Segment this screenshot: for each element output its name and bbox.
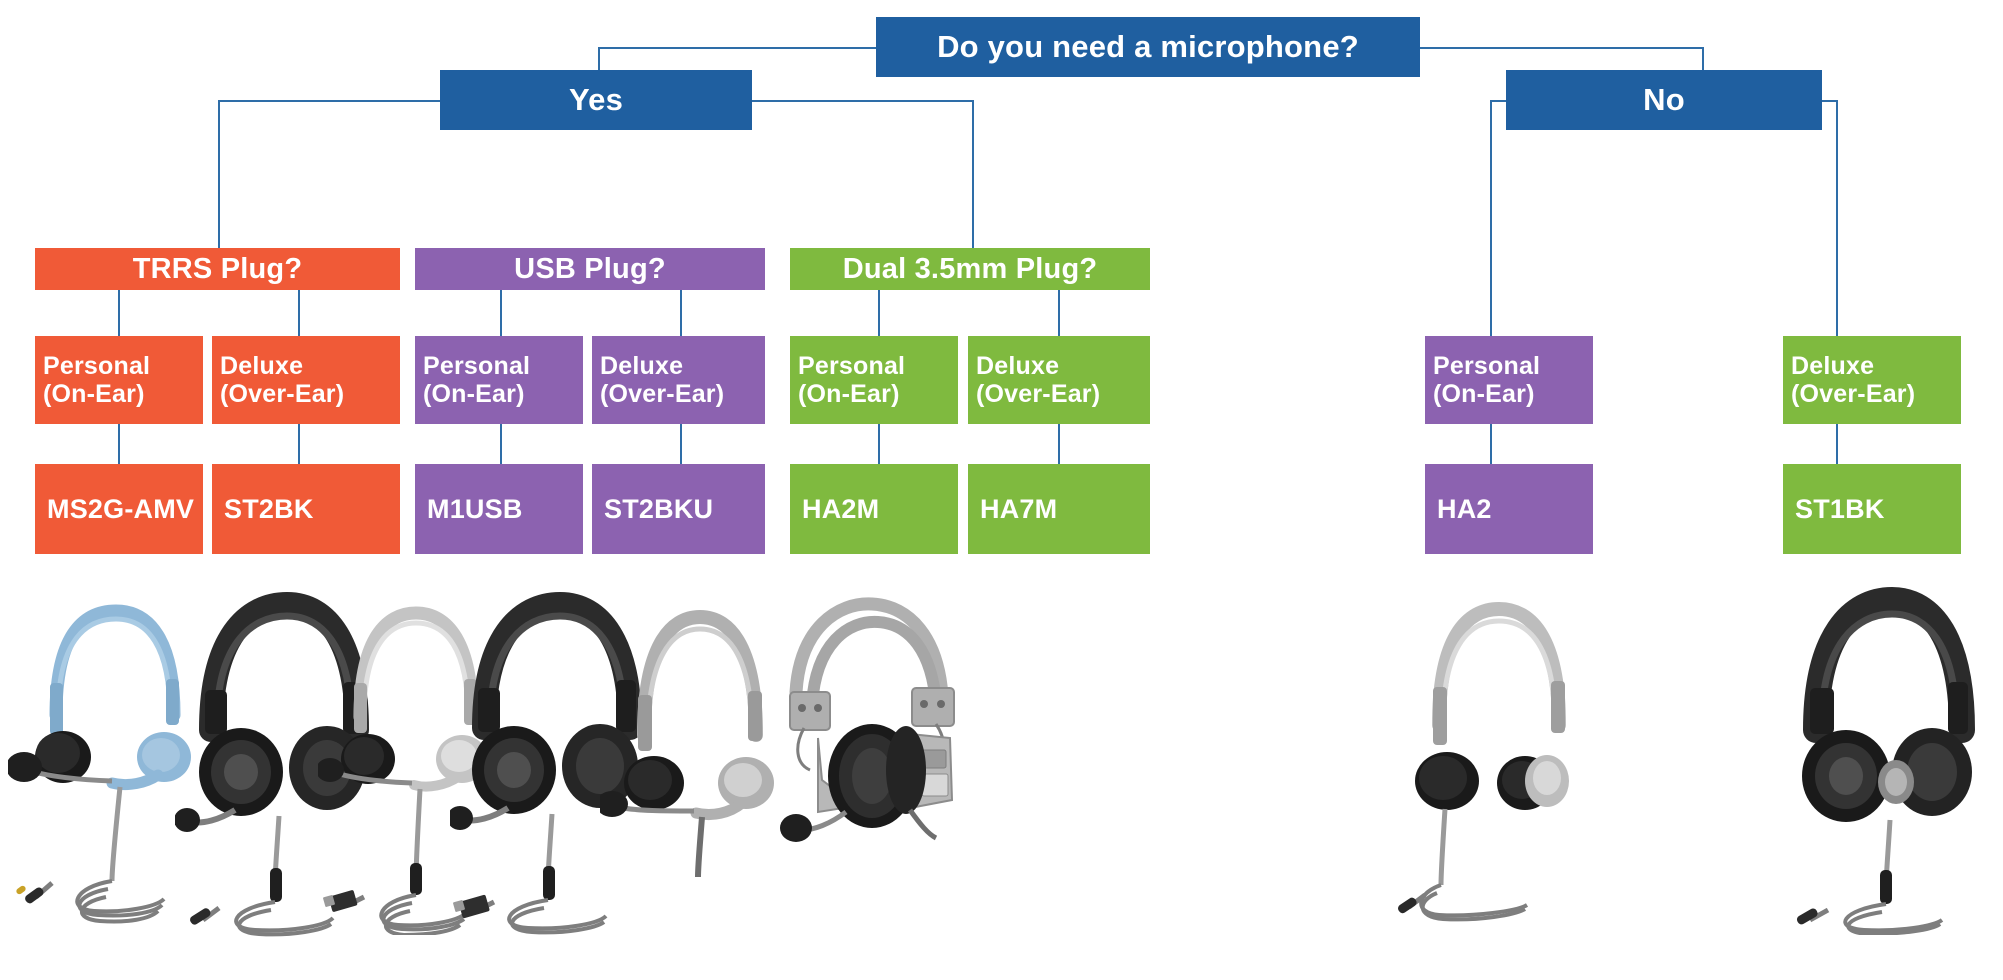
sku-label: HA7M bbox=[980, 494, 1150, 524]
sku-node-st2bk[interactable]: ST2BK bbox=[212, 464, 400, 554]
type-line1: Deluxe bbox=[1791, 352, 1961, 380]
sku-label: HA2M bbox=[802, 494, 958, 524]
product-photo-ha7m bbox=[760, 580, 970, 880]
category-node-trrs[interactable]: TRRS Plug? bbox=[35, 248, 400, 290]
sku-label: ST2BK bbox=[224, 494, 400, 524]
type-line2: (Over-Ear) bbox=[976, 380, 1150, 408]
decision-tree-diagram: Do you need a microphone? Yes No TRRS Pl… bbox=[0, 0, 2003, 980]
type-line1: Deluxe bbox=[976, 352, 1150, 380]
branch-yes-label: Yes bbox=[440, 83, 752, 118]
sku-label: HA2 bbox=[1437, 494, 1593, 524]
type-node-trrs-deluxe[interactable]: Deluxe(Over-Ear) bbox=[212, 336, 400, 424]
type-line2: (On-Ear) bbox=[43, 380, 203, 408]
type-line2: (On-Ear) bbox=[423, 380, 583, 408]
category-dual35-label: Dual 3.5mm Plug? bbox=[790, 253, 1150, 285]
branch-node-yes[interactable]: Yes bbox=[440, 70, 752, 130]
sku-node-ha7m[interactable]: HA7M bbox=[968, 464, 1150, 554]
type-line1: Personal bbox=[798, 352, 958, 380]
sku-label: M1USB bbox=[427, 494, 583, 524]
product-photo-st1bk bbox=[1780, 570, 1980, 935]
type-node-trrs-personal[interactable]: Personal(On-Ear) bbox=[35, 336, 203, 424]
type-line2: (Over-Ear) bbox=[220, 380, 400, 408]
category-node-dual35[interactable]: Dual 3.5mm Plug? bbox=[790, 248, 1150, 290]
sku-label: ST2BKU bbox=[604, 494, 765, 524]
sku-node-ms2g-amv[interactable]: MS2G-AMV bbox=[35, 464, 203, 554]
type-line1: Personal bbox=[423, 352, 583, 380]
branch-node-no[interactable]: No bbox=[1506, 70, 1822, 130]
sku-node-m1usb[interactable]: M1USB bbox=[415, 464, 583, 554]
type-node-usb-deluxe[interactable]: Deluxe(Over-Ear) bbox=[592, 336, 765, 424]
type-line2: (On-Ear) bbox=[798, 380, 958, 408]
type-node-usb-personal[interactable]: Personal(On-Ear) bbox=[415, 336, 583, 424]
type-line1: Deluxe bbox=[220, 352, 400, 380]
product-photo-ha2 bbox=[1395, 575, 1585, 935]
type-node-no-deluxe[interactable]: Deluxe(Over-Ear) bbox=[1783, 336, 1961, 424]
type-node-dual35-deluxe[interactable]: Deluxe(Over-Ear) bbox=[968, 336, 1150, 424]
category-node-usb[interactable]: USB Plug? bbox=[415, 248, 765, 290]
root-question-label: Do you need a microphone? bbox=[876, 30, 1420, 65]
type-line2: (Over-Ear) bbox=[600, 380, 765, 408]
sku-node-st1bk[interactable]: ST1BK bbox=[1783, 464, 1961, 554]
sku-node-ha2[interactable]: HA2 bbox=[1425, 464, 1593, 554]
type-line2: (Over-Ear) bbox=[1791, 380, 1961, 408]
sku-node-ha2m[interactable]: HA2M bbox=[790, 464, 958, 554]
branch-no-label: No bbox=[1506, 83, 1822, 118]
type-node-no-personal[interactable]: Personal(On-Ear) bbox=[1425, 336, 1593, 424]
sku-label: MS2G-AMV bbox=[47, 494, 203, 524]
category-usb-label: USB Plug? bbox=[415, 253, 765, 285]
type-line1: Personal bbox=[1433, 352, 1593, 380]
root-question-node[interactable]: Do you need a microphone? bbox=[876, 17, 1420, 77]
product-photo-ha2m bbox=[600, 585, 775, 885]
type-node-dual35-personal[interactable]: Personal(On-Ear) bbox=[790, 336, 958, 424]
sku-node-st2bku[interactable]: ST2BKU bbox=[592, 464, 765, 554]
category-trrs-label: TRRS Plug? bbox=[35, 253, 400, 285]
sku-label: ST1BK bbox=[1795, 494, 1961, 524]
type-line2: (On-Ear) bbox=[1433, 380, 1593, 408]
type-line1: Deluxe bbox=[600, 352, 765, 380]
product-photo-ms2g-amv bbox=[8, 575, 198, 935]
type-line1: Personal bbox=[43, 352, 203, 380]
